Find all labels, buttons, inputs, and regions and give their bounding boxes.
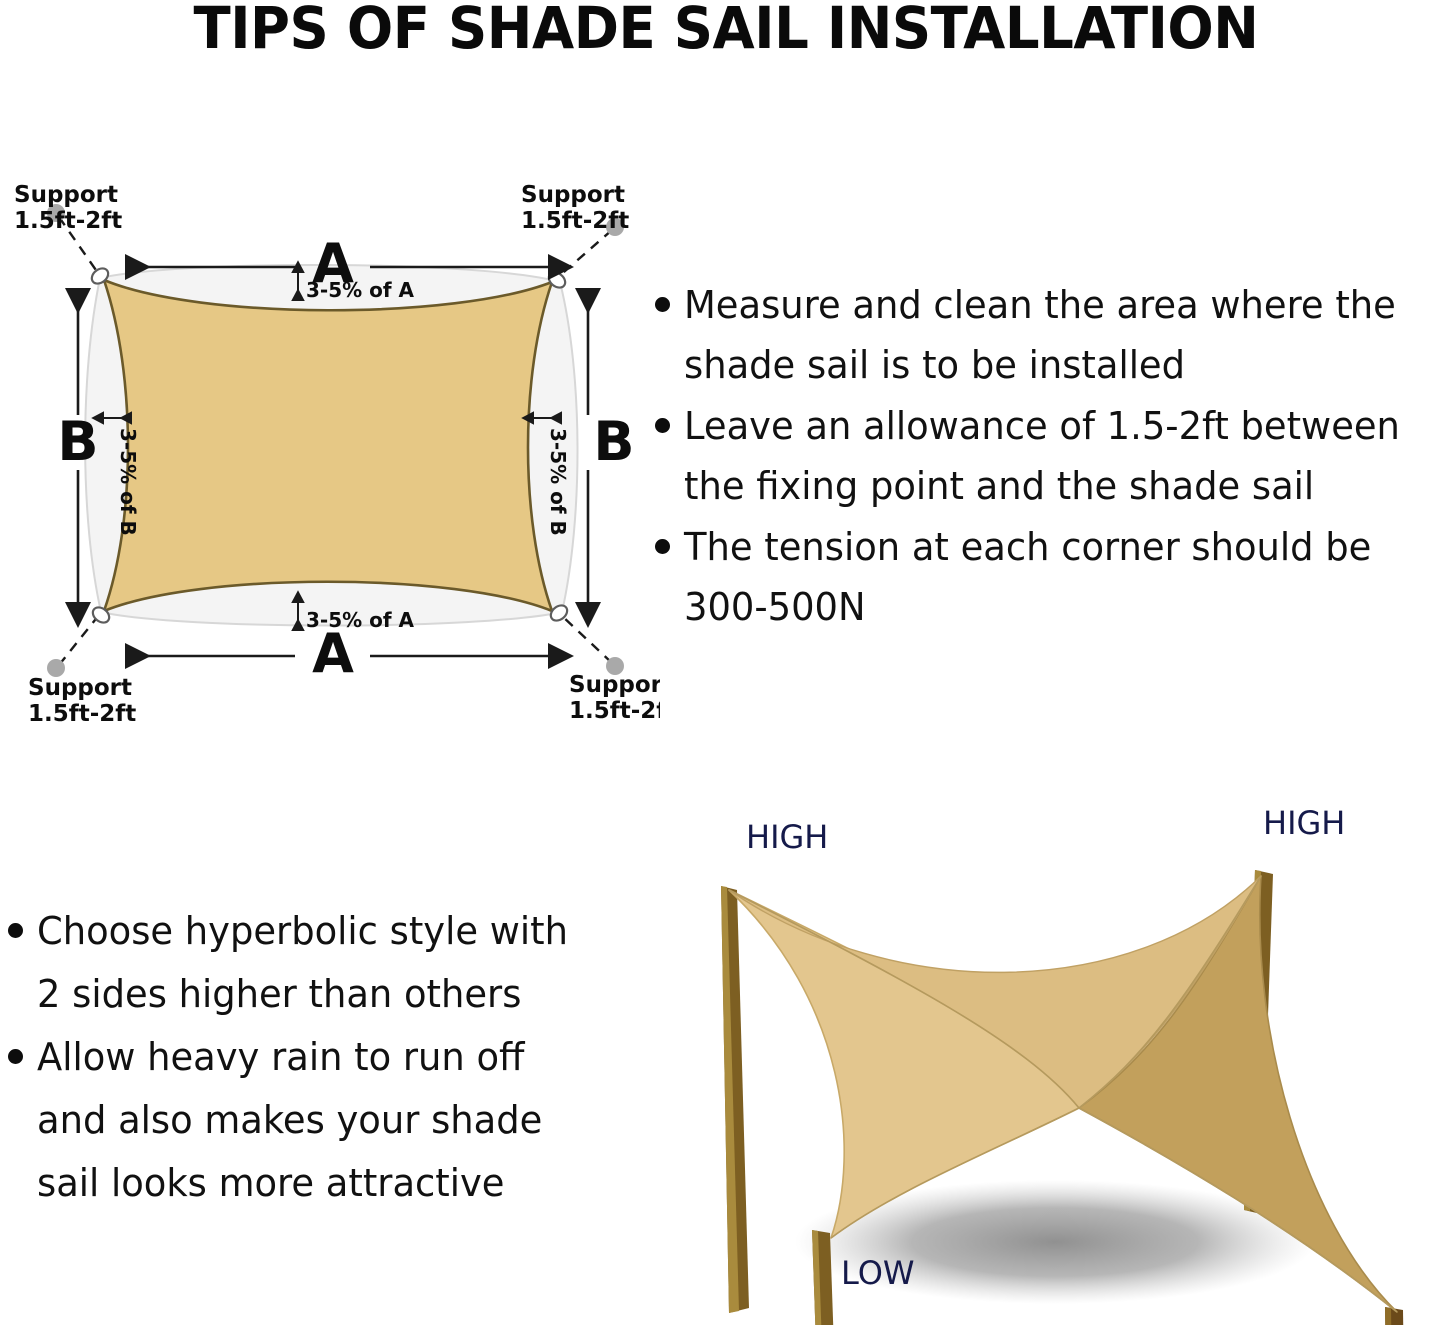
corner-label-high-right: HIGH (1263, 804, 1345, 842)
list-item: Leave an allowance of 1.5-2ft between th… (655, 396, 1452, 516)
tip-line: Leave an allowance of 1.5-2ft between (684, 404, 1400, 448)
tip-text: Leave an allowance of 1.5-2ft between th… (684, 396, 1400, 516)
support-label-top-right-line2: 1.5ft-2ft (521, 208, 629, 234)
tip-line: The tension at each corner should be (684, 525, 1371, 569)
bullet-dot-icon (8, 1049, 23, 1064)
page-title: TIPS OF SHADE SAIL INSTALLATION (44, 0, 1409, 59)
list-item: Measure and clean the area where the sha… (655, 275, 1452, 395)
curve-depth-label-left: 3-5% of B (116, 428, 140, 536)
dash-line-top-right (557, 230, 612, 278)
sail-fabric (104, 280, 552, 611)
hyperbolic-shade-sail-illustration: HIGH HIGH LOW LOW (655, 790, 1452, 1325)
dash-line-bottom-right (561, 615, 612, 663)
bullet-dot-icon (655, 418, 670, 433)
curve-depth-label-top: 3-5% of A (306, 278, 415, 302)
tip-line: shade sail is to be installed (684, 343, 1185, 387)
support-label-bottom-left-line1: Support (28, 675, 132, 701)
tip-line: the fixing point and the shade sail (684, 464, 1314, 508)
curve-depth-label-right: 3-5% of B (546, 428, 570, 536)
tip-text: The tension at each corner should be 300… (684, 517, 1371, 637)
tip-text: Allow heavy rain to run off and also mak… (37, 1026, 542, 1215)
dimension-label-b-right: B (593, 410, 634, 473)
post-low-right (1385, 1307, 1407, 1325)
dimension-label-b-left: B (57, 410, 98, 473)
infographic-root: TIPS OF SHADE SAIL INSTALLATION (0, 0, 1452, 1325)
corner-label-high-left: HIGH (746, 818, 828, 856)
tip-line: 2 sides higher than others (37, 972, 521, 1016)
dash-line-bottom-left (59, 615, 99, 665)
curve-depth-label-bottom: 3-5% of A (306, 608, 415, 632)
rectangular-shade-sail-dimension-diagram: A 3-5% of A A 3-5% of A B 3-5% of B (0, 160, 660, 740)
tips-list-hyperbolic: Choose hyperbolic style with 2 sides hig… (8, 900, 628, 1215)
tip-line: Choose hyperbolic style with (37, 909, 568, 953)
support-label-bottom-left-line2: 1.5ft-2ft (28, 701, 136, 727)
tip-line: sail looks more attractive (37, 1161, 504, 1205)
support-label-bottom-right-line1: Support (569, 672, 660, 698)
list-item: The tension at each corner should be 300… (655, 517, 1452, 637)
support-label-top-right-line1: Support (521, 182, 625, 208)
bullet-dot-icon (655, 297, 670, 312)
corner-label-low-left: LOW (841, 1254, 915, 1292)
tip-line: and also makes your shade (37, 1098, 542, 1142)
support-label-bottom-right-line2: 1.5ft-2ft (569, 698, 660, 724)
tip-text: Measure and clean the area where the sha… (684, 275, 1396, 395)
tip-line: Measure and clean the area where the (684, 283, 1396, 327)
list-item: Allow heavy rain to run off and also mak… (8, 1026, 628, 1215)
tip-line: Allow heavy rain to run off (37, 1035, 524, 1079)
tip-text: Choose hyperbolic style with 2 sides hig… (37, 900, 568, 1026)
support-label-top-left-line1: Support (14, 182, 118, 208)
tip-line: 300-500N (684, 585, 866, 629)
bullet-dot-icon (655, 539, 670, 554)
tips-list-installation: Measure and clean the area where the sha… (655, 275, 1452, 638)
bullet-dot-icon (8, 923, 23, 938)
list-item: Choose hyperbolic style with 2 sides hig… (8, 900, 628, 1026)
support-label-top-left-line2: 1.5ft-2ft (14, 208, 122, 234)
post-high-left (721, 886, 749, 1313)
